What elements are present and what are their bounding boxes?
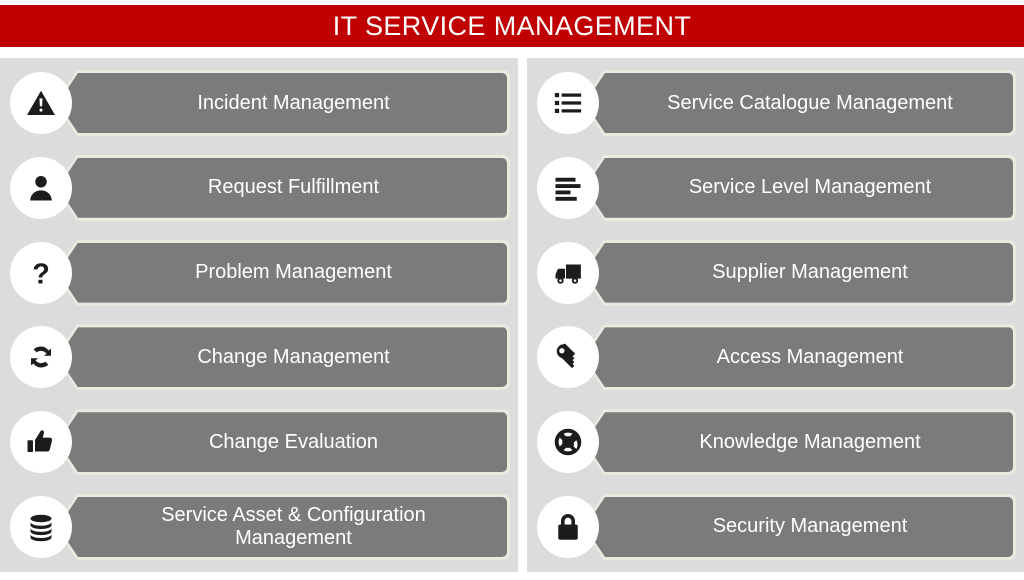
bar-levels-icon <box>537 157 599 219</box>
question-mark-icon: ? <box>10 242 72 304</box>
process-label: Knowledge Management <box>582 431 1016 454</box>
thumbs-up-icon <box>10 411 72 473</box>
left-column-panel: Incident Management Request Fulfillment <box>0 58 518 572</box>
process-bar[interactable]: Change Evaluation <box>55 409 510 475</box>
user-icon <box>10 157 72 219</box>
process-row-knowledge-management[interactable]: Knowledge Management <box>527 405 1024 479</box>
process-bar[interactable]: Service Level Management <box>582 155 1016 221</box>
process-bar[interactable]: Incident Management <box>55 70 510 136</box>
process-label: Supplier Management <box>582 261 1016 284</box>
process-bar[interactable]: Service Asset & Configuration Management <box>55 494 510 560</box>
process-label: Incident Management <box>55 92 510 115</box>
process-row-supplier-management[interactable]: Supplier Management <box>527 236 1024 310</box>
delivery-truck-icon <box>537 242 599 304</box>
right-column-panel: Service Catalogue Management Service Lev… <box>527 58 1024 572</box>
process-row-problem-management[interactable]: Problem Management ? <box>0 236 518 310</box>
process-label: Problem Management <box>55 261 510 284</box>
lock-icon <box>537 496 599 558</box>
process-label: Service Level Management <box>582 176 1016 199</box>
process-row-service-catalogue-management[interactable]: Service Catalogue Management <box>527 66 1024 140</box>
svg-text:?: ? <box>32 258 50 287</box>
process-bar[interactable]: Problem Management <box>55 240 510 306</box>
process-row-security-management[interactable]: Security Management <box>527 490 1024 564</box>
process-row-incident-management[interactable]: Incident Management <box>0 66 518 140</box>
process-row-service-asset-configuration-management[interactable]: Service Asset & Configuration Management <box>0 490 518 564</box>
process-bar[interactable]: Change Management <box>55 324 510 390</box>
page-title: IT SERVICE MANAGEMENT <box>333 13 691 40</box>
process-label: Security Management <box>582 515 1016 538</box>
process-label: Change Management <box>55 346 510 369</box>
process-row-access-management[interactable]: Access Management <box>527 320 1024 394</box>
itsm-diagram: IT SERVICE MANAGEMENT Incident Managemen… <box>0 0 1024 580</box>
database-stack-icon <box>10 496 72 558</box>
process-label: Service Asset & Configuration Management <box>55 504 510 550</box>
refresh-sync-icon <box>10 326 72 388</box>
process-bar[interactable]: Request Fulfillment <box>55 155 510 221</box>
process-label: Change Evaluation <box>55 431 510 454</box>
process-bar[interactable]: Supplier Management <box>582 240 1016 306</box>
process-bar[interactable]: Access Management <box>582 324 1016 390</box>
process-bar[interactable]: Service Catalogue Management <box>582 70 1016 136</box>
process-label: Request Fulfillment <box>55 176 510 199</box>
key-icon <box>537 326 599 388</box>
life-ring-icon <box>537 411 599 473</box>
process-label: Access Management <box>582 346 1016 369</box>
process-row-request-fulfillment[interactable]: Request Fulfillment <box>0 151 518 225</box>
column-divider <box>518 58 527 572</box>
warning-triangle-icon <box>10 72 72 134</box>
columns-container: Incident Management Request Fulfillment <box>0 58 1024 572</box>
process-bar[interactable]: Knowledge Management <box>582 409 1016 475</box>
process-row-change-evaluation[interactable]: Change Evaluation <box>0 405 518 479</box>
process-bar[interactable]: Security Management <box>582 494 1016 560</box>
process-label: Service Catalogue Management <box>582 92 1016 115</box>
list-icon <box>537 72 599 134</box>
page-title-banner: IT SERVICE MANAGEMENT <box>0 5 1024 47</box>
process-row-service-level-management[interactable]: Service Level Management <box>527 151 1024 225</box>
process-row-change-management[interactable]: Change Management <box>0 320 518 394</box>
